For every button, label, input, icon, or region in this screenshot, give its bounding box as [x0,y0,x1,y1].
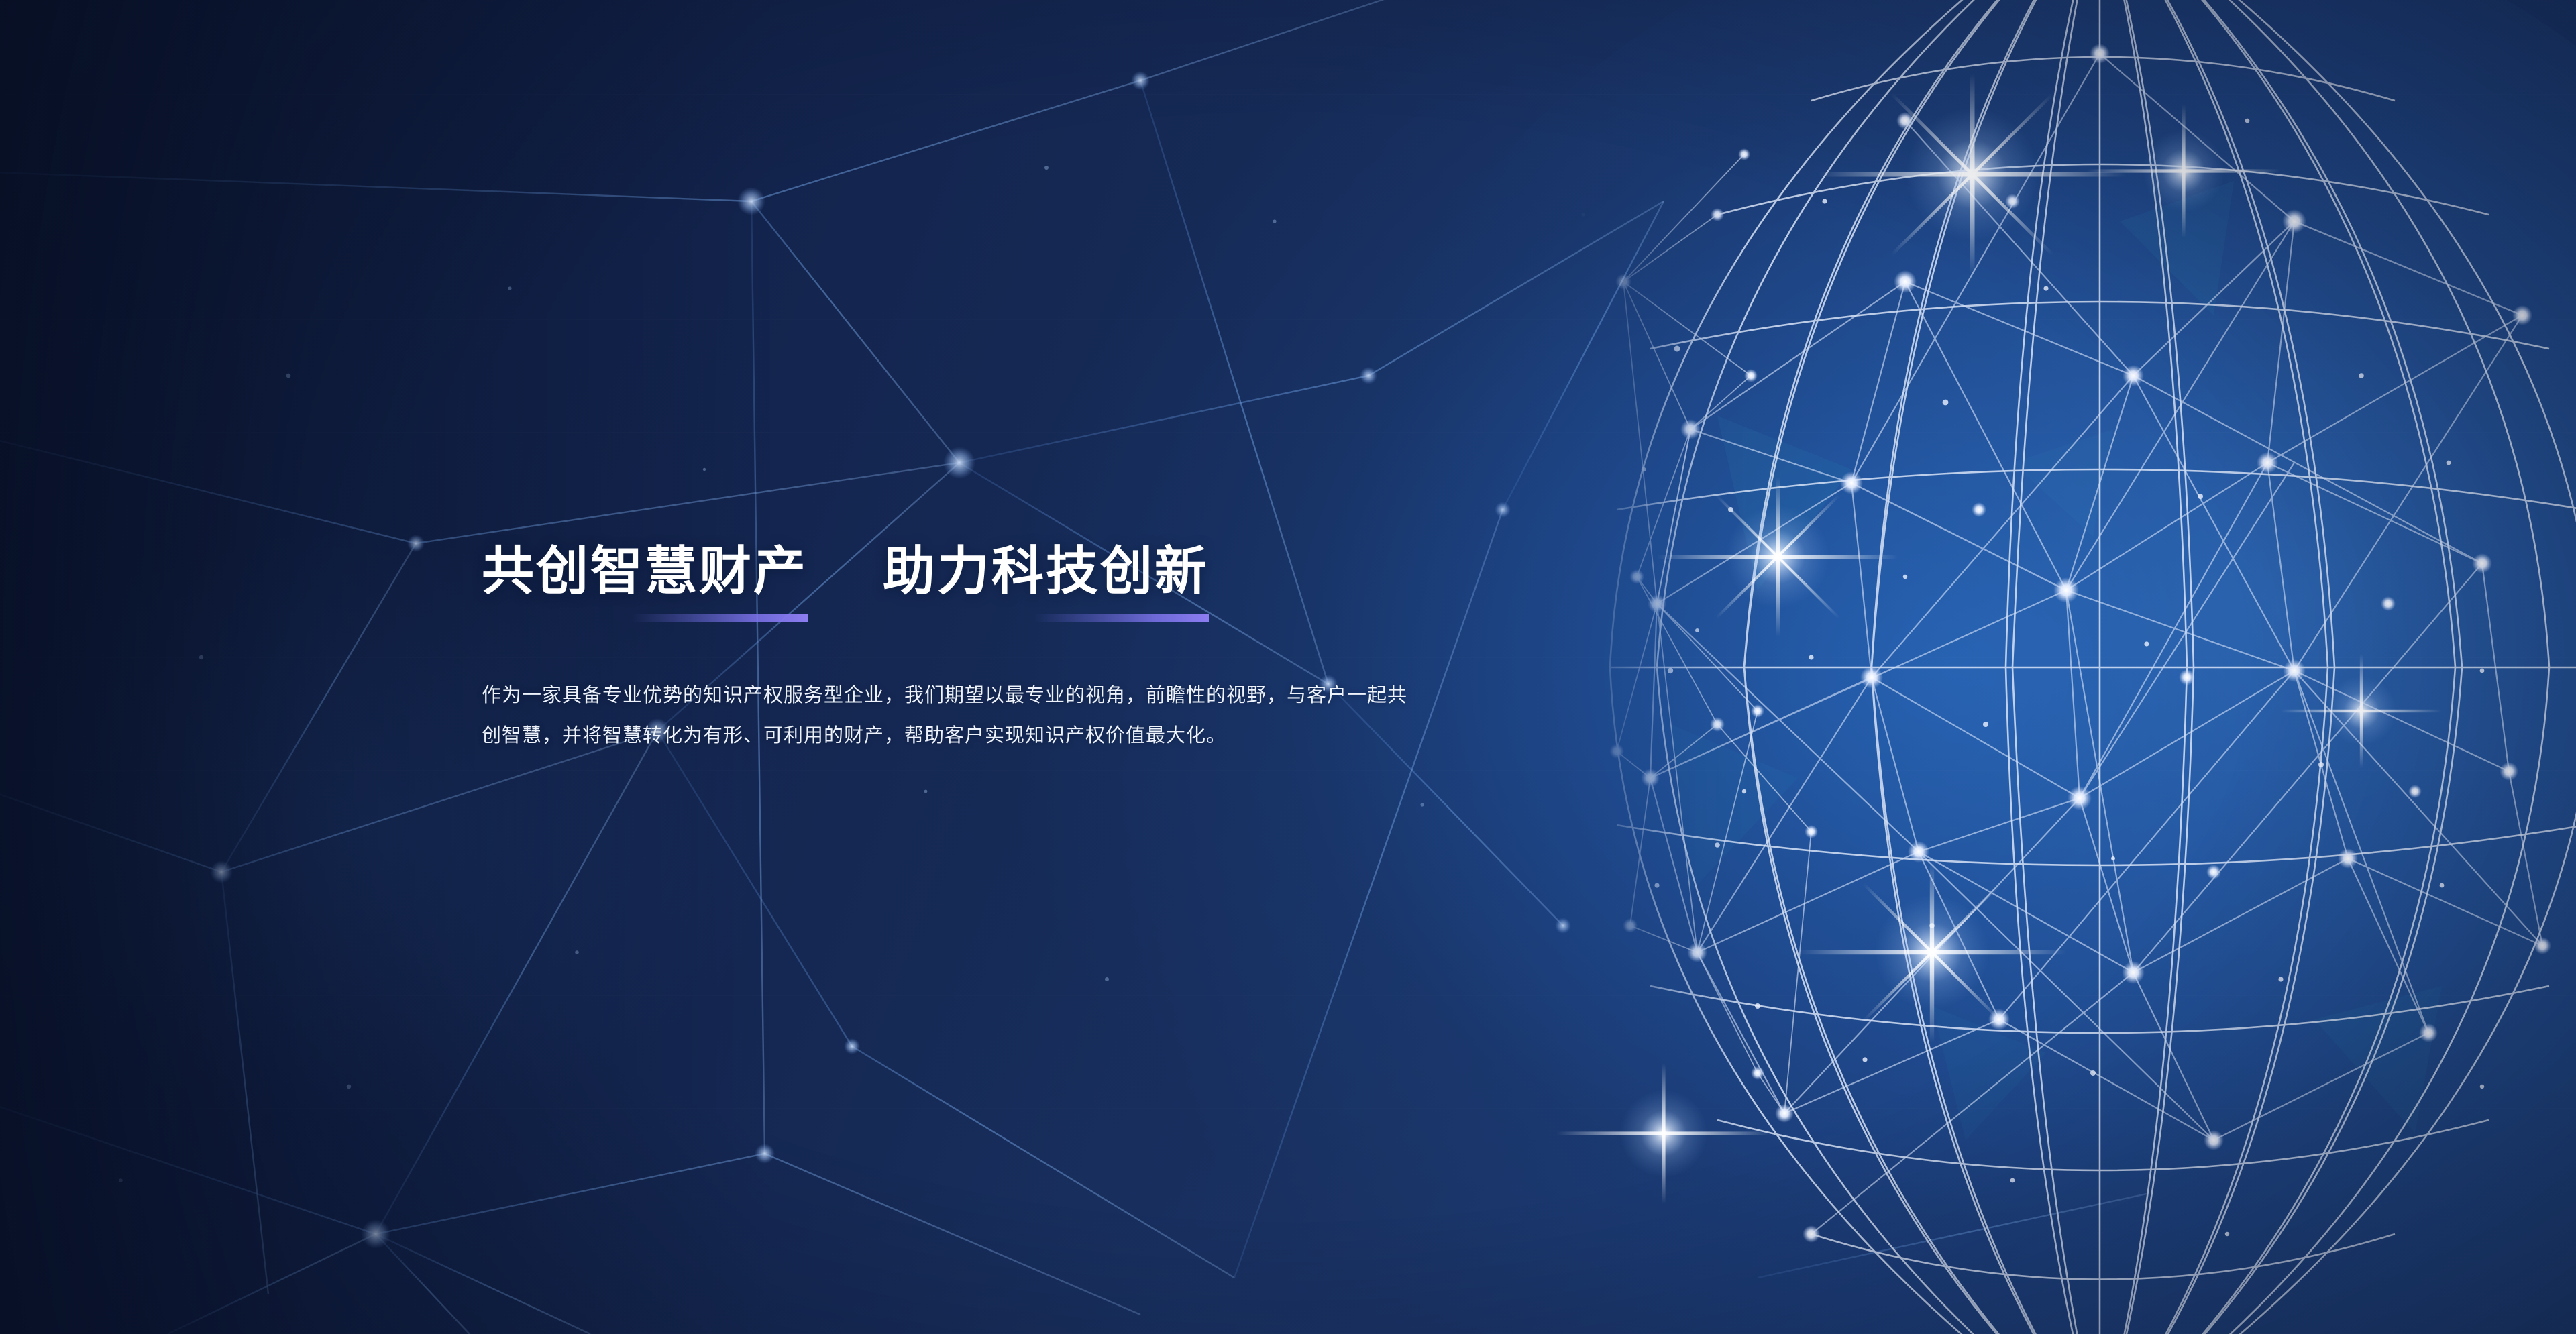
hero-copy: 共创智慧财产 助力科技创新 作为一家具备专业优势的知识产权服务型企业，我们期望以… [482,545,1421,775]
hero-description: 作为一家具备专业优势的知识产权服务型企业，我们期望以最专业的视角，前瞻性的视野，… [482,676,1407,756]
headline-part-2-text: 助力科技创新 [883,545,1209,597]
banner-hero: 共创智慧财产 助力科技创新 作为一家具备专业优势的知识产权服务型企业，我们期望以… [0,0,2576,1334]
headline-part-1: 共创智慧财产 [482,545,808,597]
headline-part-2: 助力科技创新 [883,545,1209,597]
page-title: 共创智慧财产 助力科技创新 [482,545,1421,597]
headline-part-1-text: 共创智慧财产 [482,545,808,597]
accent-underline-2 [1033,614,1209,622]
accent-underline-1 [632,614,808,622]
